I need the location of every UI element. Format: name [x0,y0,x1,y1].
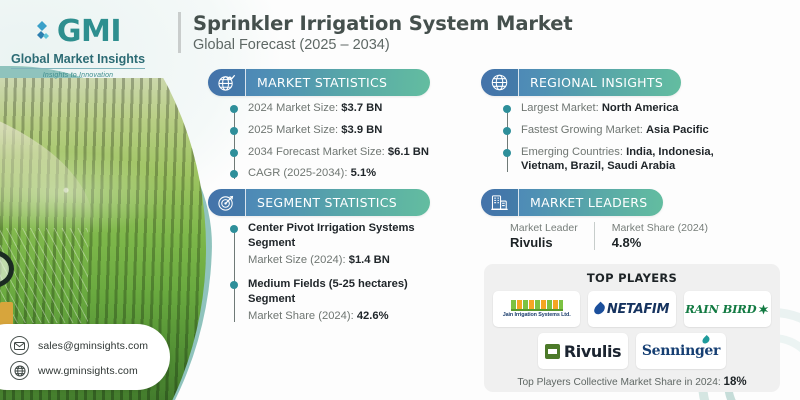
market-leader-label: Market Leader [510,222,578,234]
section-label: REGIONAL INSIGHTS [519,75,663,90]
player-logo-senninger[interactable]: Senninger [636,333,726,369]
region-label: Emerging Countries: [521,146,623,158]
collective-share-value: 18% [724,376,747,388]
contact-email: sales@gminsights.com [38,340,148,352]
market-leader-column: Market Leader Rivulis [510,222,578,250]
market-leader-stats: Market Leader Rivulis Market Share (2024… [510,222,708,250]
contact-card: sales@gminsights.com www.gminsights.com [0,324,170,390]
segment-value: 42.6% [357,310,389,322]
market-share-column: Market Share (2024) 4.8% [594,222,708,250]
section-label: SEGMENT STATISTICS [246,195,397,210]
region-label: Fastest Growing Market: [521,124,643,136]
rivulis-mark-icon [545,344,560,359]
logo-company-name: Global Market Insights [11,52,145,69]
list-item: Medium Fields (5-25 hectares) Segment Ma… [228,277,438,323]
player-logo-jain-irrigation[interactable]: Jain Irrigation Systems Ltd. [493,291,580,327]
senninger-logo: Senninger [642,343,720,359]
player-logo-rivulis[interactable]: Rivulis [538,333,628,369]
rain-bird-logo: RAIN BIRD [685,302,769,316]
market-leader-value: Rivulis [510,235,578,250]
bar-chart-icon [481,189,519,216]
page-title: Sprinkler Irrigation System Market [193,12,573,35]
player-logo-netafim[interactable]: NETAFIM [588,291,675,327]
player-name: NETAFIM [607,302,669,317]
stat-value: $3.9 BN [341,124,382,136]
segment-label: Market Size (2024): [248,254,346,266]
stat-label: CAGR (2025-2034): [248,167,348,179]
bullet-dot [230,149,238,157]
bullet-dot [230,225,238,233]
top-players-card: TOP PLAYERS Jain Irrigation Systems Ltd.… [484,264,780,392]
bullet-dot [230,127,238,135]
rivulis-logo: Rivulis [545,342,621,361]
globe-icon [481,69,519,96]
collective-share-label: Top Players Collective Market Share in 2… [517,377,720,388]
market-share-value: 4.8% [612,235,708,250]
envelope-icon [10,336,29,355]
stat-label: 2024 Market Size: [248,102,338,114]
player-name: Jain Irrigation Systems Ltd. [503,313,571,318]
stat-label: 2034 Forecast Market Size: [248,146,385,158]
region-value: North America [602,102,679,114]
player-name: Rivulis [564,342,621,361]
top-players-row-1: Jain Irrigation Systems Ltd. NETAFIM RAI… [493,291,771,327]
region-label: Largest Market: [521,102,599,114]
gmi-logo[interactable]: GMI Global Market Insights Insights to I… [8,14,148,79]
bullet-dot [503,127,511,135]
photo-haze [0,78,94,228]
stat-value: $6.1 BN [388,146,429,158]
player-name: Senninger [642,343,720,359]
list-item: Center Pivot Irrigation Systems Segment … [228,221,438,267]
segment-title: Medium Fields (5-25 hectares) Segment [248,278,408,305]
list-item: CAGR (2025-2034): 5.1% [228,166,443,181]
bullet-dot [230,170,238,178]
top-players-row-2: Rivulis Senninger [493,333,771,369]
section-label: MARKET STATISTICS [246,75,387,90]
contact-email-row[interactable]: sales@gminsights.com [10,333,170,358]
netafim-logo: NETAFIM [595,302,669,317]
bullet-dot [503,149,511,157]
market-statistics-list: 2024 Market Size: $3.7 BN 2025 Market Si… [228,101,443,188]
list-item: Emerging Countries: India, Indonesia, Vi… [501,145,756,175]
stat-label: 2025 Market Size: [248,124,338,136]
region-value: Asia Pacific [646,124,709,136]
infographic-canvas: sales@gminsights.com www.gminsights.com … [0,0,800,400]
segment-label: Market Share (2024): [248,310,354,322]
page-subtitle: Global Forecast (2025 – 2034) [193,37,573,53]
target-arrow-icon [208,189,246,216]
section-header-market-leaders: MARKET LEADERS [481,189,663,216]
jain-bars-icon [511,300,563,311]
logo-tagline: Insights to Innovation [8,72,148,79]
sprinkler-bird-icon [758,304,769,315]
player-logo-rain-bird[interactable]: RAIN BIRD [684,291,771,327]
list-item: Fastest Growing Market: Asia Pacific [501,123,756,138]
contact-website: www.gminsights.com [38,365,138,377]
player-name: RAIN BIRD [685,302,756,316]
list-item: Largest Market: North America [501,101,756,116]
logo-initials: GMI [57,14,121,49]
gmi-diamond-icon [35,19,55,45]
section-header-market-statistics: MARKET STATISTICS [208,69,430,96]
title-block: Sprinkler Irrigation System Market Globa… [178,12,573,53]
globe-icon [10,361,29,380]
list-item: 2025 Market Size: $3.9 BN [228,123,443,138]
section-header-segment-statistics: SEGMENT STATISTICS [208,189,430,216]
stat-value: $3.7 BN [341,102,382,114]
segment-value: $1.4 BN [349,254,390,266]
section-header-regional-insights: REGIONAL INSIGHTS [481,69,681,96]
regional-insights-list: Largest Market: North America Fastest Gr… [501,101,756,181]
water-drop-icon [592,302,607,317]
section-label: MARKET LEADERS [519,195,647,210]
stat-value: 5.1% [351,167,377,179]
top-players-title: TOP PLAYERS [493,271,771,285]
contact-website-row[interactable]: www.gminsights.com [10,358,170,383]
globe-chart-icon [208,69,246,96]
segment-title: Center Pivot Irrigation Systems Segment [248,222,415,249]
logo-mark-row: GMI [8,14,148,49]
collective-share-row: Top Players Collective Market Share in 2… [493,376,771,388]
list-item: 2024 Market Size: $3.7 BN [228,101,443,116]
bullet-dot [230,105,238,113]
list-item: 2034 Forecast Market Size: $6.1 BN [228,145,443,160]
segment-statistics-list: Center Pivot Irrigation Systems Segment … [228,221,438,331]
bullet-dot [503,105,511,113]
water-spray [0,228,88,323]
market-share-label: Market Share (2024) [612,222,708,234]
jain-irrigation-logo: Jain Irrigation Systems Ltd. [503,300,571,318]
bullet-dot [230,281,238,289]
